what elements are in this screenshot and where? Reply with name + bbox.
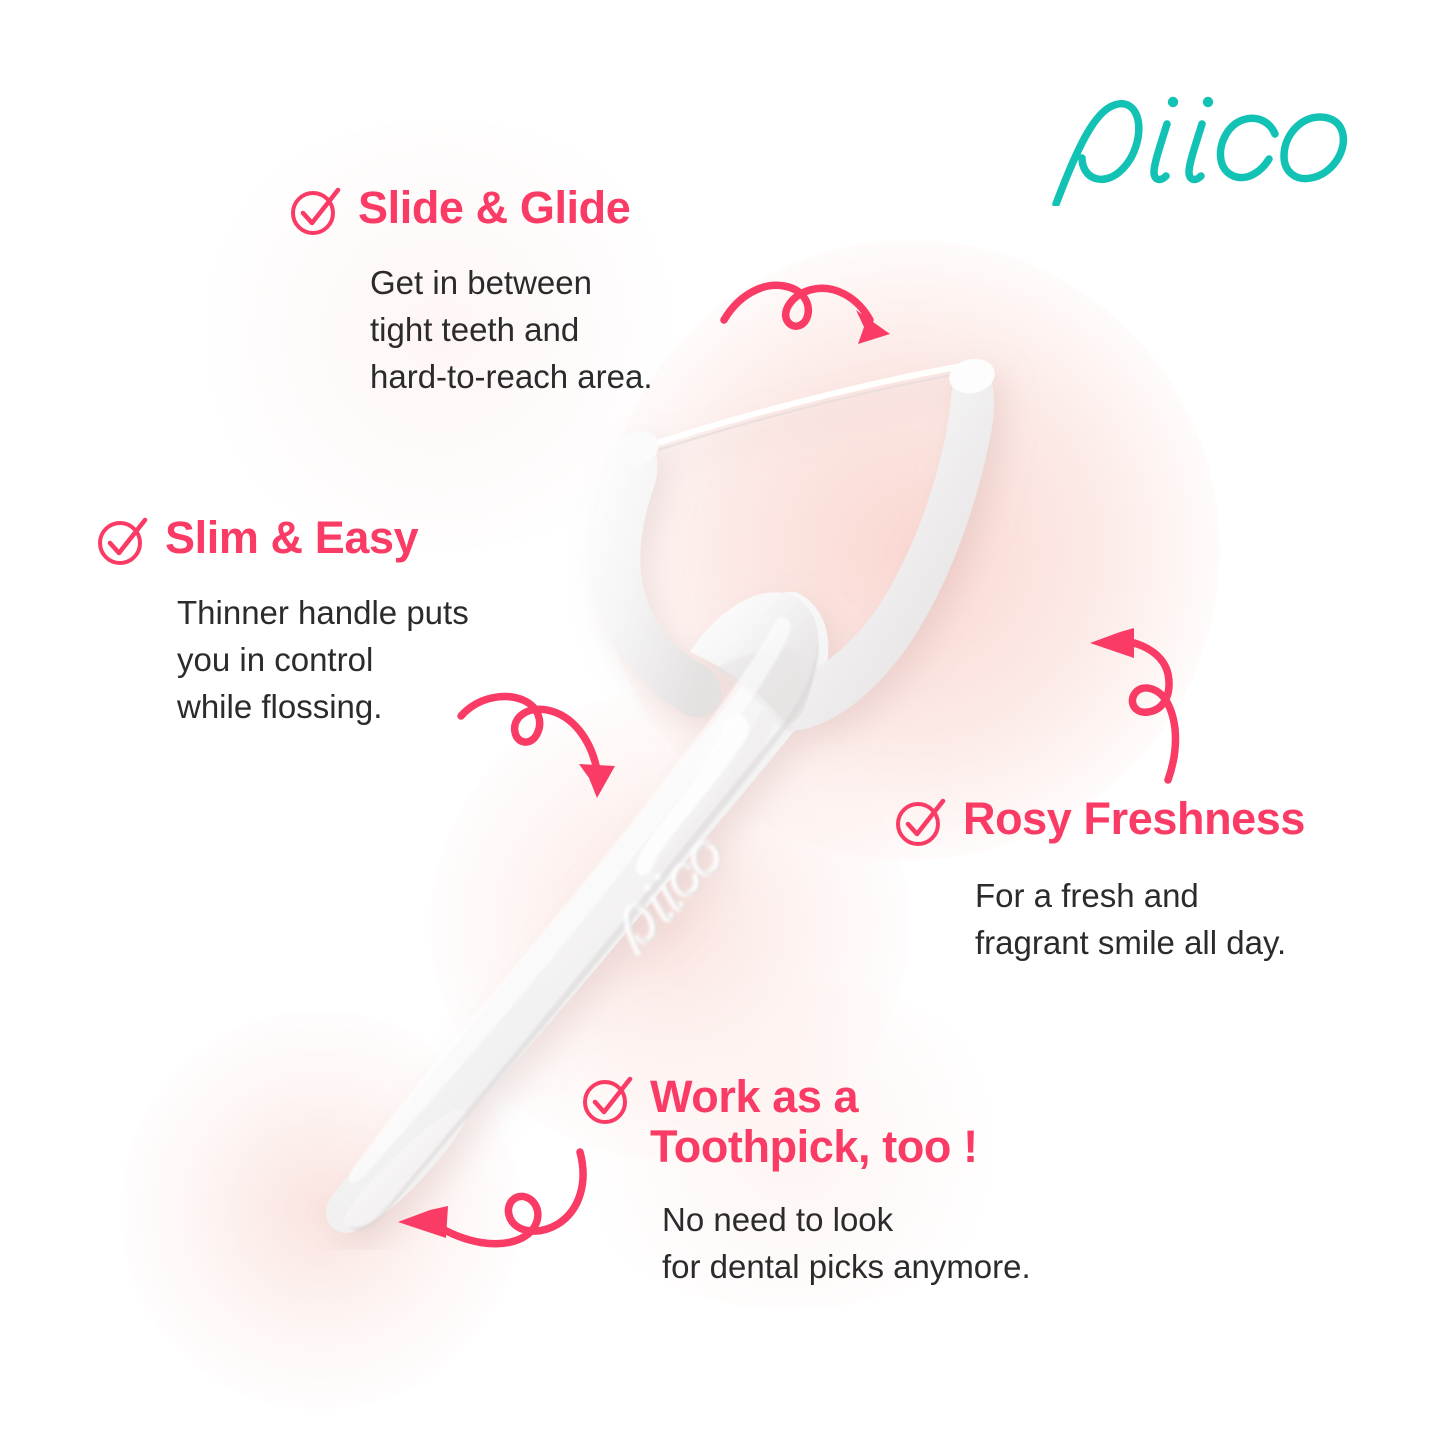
feature-slide-and-glide: Slide & Glide Get in between tight teeth… [288,182,652,401]
feature-body: No need to look for dental picks anymore… [662,1197,1031,1291]
floss-string-shadow [637,373,963,457]
check-circle-icon [95,512,151,568]
feature-heading-row: Slim & Easy [95,512,469,568]
floss-string [636,366,962,450]
infographic-poster: Slide & Glide Get in between tight teeth… [0,0,1445,1445]
feature-heading-row: Slide & Glide [288,182,652,238]
feature-heading-row: Work as a Toothpick, too ! [580,1071,1031,1173]
feature-title: Rosy Freshness [963,793,1305,844]
feature-body: Get in between tight teeth and hard-to-r… [370,260,652,401]
feature-title: Slide & Glide [358,182,630,233]
feature-work-as-a-toothpick: Work as a Toothpick, too ! No need to lo… [580,1071,1031,1291]
feature-body: Thinner handle puts you in control while… [177,590,469,731]
feature-heading-row: Rosy Freshness [893,793,1305,849]
fork-left-prong [593,434,721,717]
check-circle-icon [580,1071,636,1127]
check-circle-icon [288,182,344,238]
feature-title: Work as a Toothpick, too ! [650,1071,978,1173]
feature-rosy-freshness: Rosy Freshness For a fresh and fragrant … [893,793,1305,967]
feature-slim-and-easy: Slim & Easy Thinner handle puts you in c… [95,512,469,731]
piico-logo [1032,86,1362,206]
feature-body: For a fresh and fragrant smile all day. [975,873,1305,967]
check-circle-icon [893,793,949,849]
feature-title: Slim & Easy [165,512,418,563]
